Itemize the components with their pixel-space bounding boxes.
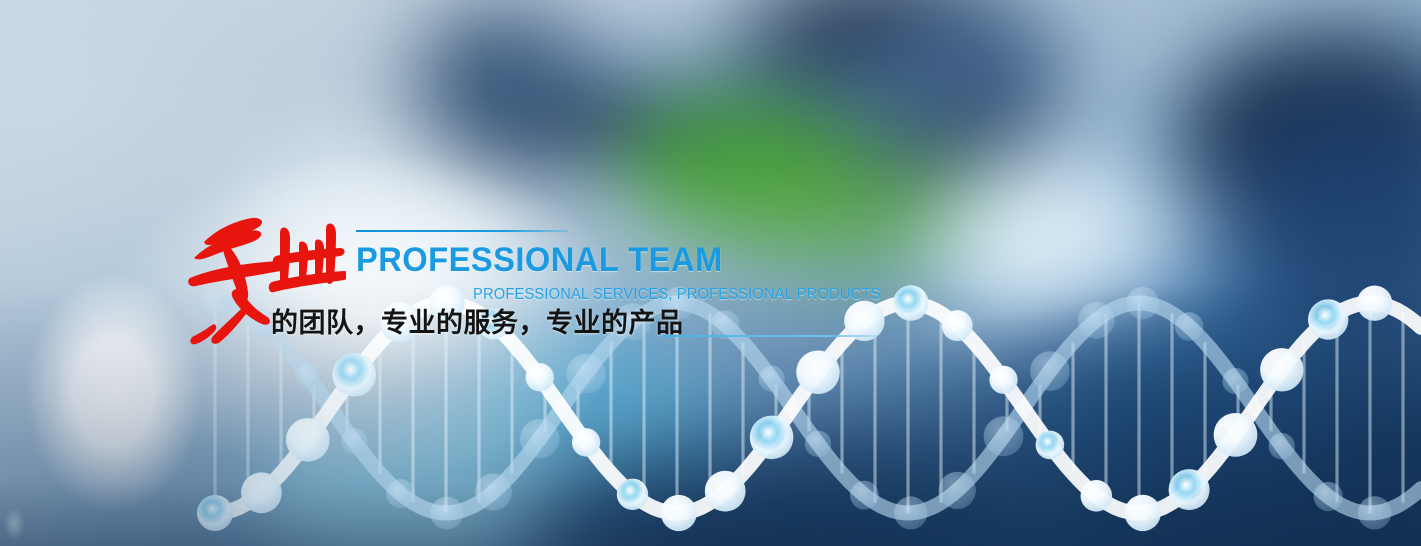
subtitle-english: PROFESSIONAL SERVICES, PROFESSIONAL PROD… xyxy=(473,285,880,304)
divider-bottom xyxy=(662,335,878,337)
divider-top xyxy=(356,230,568,232)
tagline-chinese: 的团队，专业的服务，专业的产品 xyxy=(271,306,684,340)
headline-block: PROFESSIONAL TEAM PROFESSIONAL SERVICES,… xyxy=(0,0,1421,546)
hero-banner: PROFESSIONAL TEAM PROFESSIONAL SERVICES,… xyxy=(0,0,1421,546)
title-english: PROFESSIONAL TEAM xyxy=(356,240,723,280)
